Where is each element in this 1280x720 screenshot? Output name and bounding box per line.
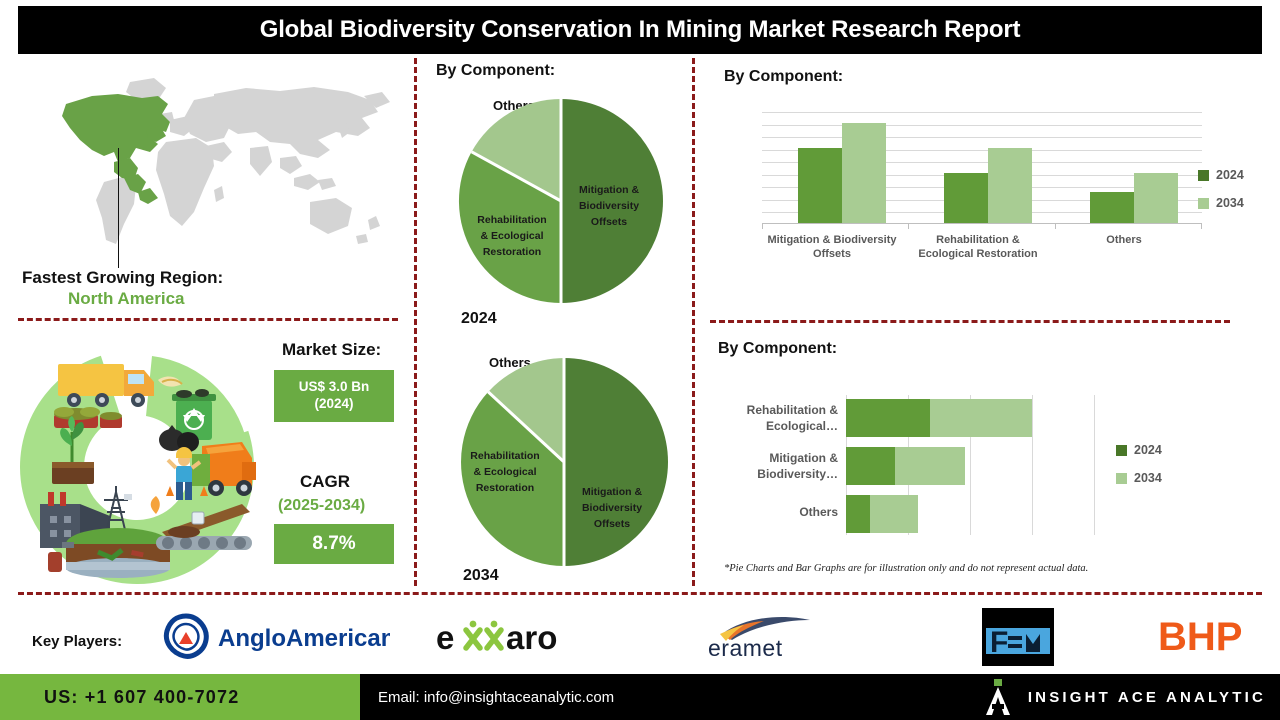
fastest-growing-region-value: North America (68, 289, 185, 309)
vertical-bar-title: By Component: (724, 68, 843, 86)
vbar-category-label-1: Rehabilitation & Ecological Restoration (912, 234, 1044, 262)
bar-2024-others (1090, 192, 1134, 223)
svg-text:e: e (436, 619, 454, 656)
svg-text:& Ecological: & Ecological (473, 466, 536, 478)
legend-item-2024-hbar: 2024 (1116, 443, 1162, 457)
vbar-category-label-2: Others (1058, 234, 1190, 248)
header-bar: Global Biodiversity Conservation In Mini… (18, 6, 1262, 54)
market-size-value: US$ 3.0 Bn (299, 379, 370, 396)
map-leader-line (118, 148, 119, 268)
hbar-2024-mitigation (846, 447, 895, 485)
brand-block: INSIGHT ACE ANALYTIC (982, 674, 1266, 720)
svg-text:Rehabilitation: Rehabilitation (477, 214, 546, 226)
angloamerican-mark (166, 616, 206, 656)
legend-label-2034-hbar: 2034 (1134, 471, 1162, 485)
hbar-category-label-1: Mitigation & Biodiversity… (710, 451, 838, 482)
divider-horizontal-bottom (18, 592, 1262, 595)
logo-bhp: BHP (1158, 614, 1262, 663)
hbar-category-label-2: Others (710, 505, 838, 521)
bar-2034-others (1134, 173, 1178, 223)
svg-text:F: F (990, 626, 1008, 659)
legend-label-2024: 2024 (1216, 168, 1244, 182)
chart-footnote: *Pie Charts and Bar Graphs are for illus… (724, 563, 1088, 574)
divider-horizontal-left (18, 318, 398, 321)
market-size-label: Market Size: (282, 340, 381, 360)
key-players-label: Key Players: (32, 633, 122, 650)
logo-eramet: eramet (706, 612, 826, 667)
vertical-bar-axis (762, 223, 1202, 224)
cagr-value: 8.7% (312, 533, 355, 555)
svg-text:Restoration: Restoration (483, 246, 541, 258)
horizontal-bar-plot (846, 395, 1096, 535)
svg-text:eramet: eramet (708, 635, 783, 661)
page-title: Global Biodiversity Conservation In Mini… (260, 16, 1021, 44)
pie-2024-year: 2024 (461, 310, 497, 328)
svg-text:& Ecological: & Ecological (480, 230, 543, 242)
legend-swatch-2034 (1198, 198, 1209, 209)
cagr-value-box: 8.7% (274, 524, 394, 564)
hbar-2034-rehabilitation (930, 399, 1032, 437)
insight-ace-logo-icon (982, 677, 1016, 717)
divider-vertical-right (692, 58, 695, 586)
fastest-growing-region-label: Fastest Growing Region: (22, 268, 223, 288)
legend-swatch-2024-hbar (1116, 445, 1127, 456)
svg-text:Biodiversity: Biodiversity (582, 502, 642, 514)
legend-item-2034-hbar: 2034 (1116, 471, 1162, 485)
svg-text:AngloAmerican: AngloAmerican (218, 625, 390, 652)
legend-label-2024-hbar: 2024 (1134, 443, 1162, 457)
pie-2024-title: By Component: (436, 62, 555, 80)
world-map (18, 70, 398, 260)
legend-item-2024: 2024 (1198, 168, 1244, 182)
svg-text:Biodiversity: Biodiversity (579, 200, 639, 212)
divider-horizontal-right (710, 320, 1230, 323)
horizontal-bar-legend: 2024 2034 (1116, 443, 1162, 499)
bar-2034-mitigation (842, 123, 886, 223)
svg-text:Rehabilitation: Rehabilitation (470, 450, 539, 462)
pie-chart-2034: Mitigation & Biodiversity Offsets Rehabi… (449, 355, 679, 570)
horizontal-bar-title: By Component: (718, 340, 837, 358)
svg-text:Offsets: Offsets (591, 216, 627, 228)
hbar-2024-others (846, 495, 870, 533)
pie-chart-2024: Mitigation & Biodiversity Offsets Rehabi… (451, 95, 671, 307)
vertical-bar-plot (762, 112, 1202, 224)
svg-text:Restoration: Restoration (476, 482, 534, 494)
cagr-years: (2025-2034) (278, 497, 365, 515)
bar-2024-rehabilitation (944, 173, 988, 223)
svg-text:Mitigation &: Mitigation & (582, 486, 642, 498)
hbar-2034-mitigation (895, 447, 965, 485)
legend-label-2034: 2034 (1216, 196, 1244, 210)
legend-item-2034: 2034 (1198, 196, 1244, 210)
hbar-category-label-0: Rehabilitation & Ecological… (710, 403, 838, 434)
footer-phone: US: +1 607 400-7072 (0, 674, 360, 720)
pie-2034-year: 2034 (463, 567, 499, 585)
hbar-2024-rehabilitation (846, 399, 930, 437)
vbar-category-label-0: Mitigation & Biodiversity Offsets (766, 234, 898, 262)
legend-swatch-2024 (1198, 170, 1209, 181)
svg-text:aro: aro (506, 619, 557, 656)
logo-fmi: F (982, 608, 1054, 671)
infographic-page: Global Biodiversity Conservation In Mini… (0, 0, 1280, 720)
brand-name: INSIGHT ACE ANALYTIC (1028, 689, 1266, 706)
vertical-bar-legend: 2024 2034 (1198, 168, 1244, 224)
svg-text:Mitigation &: Mitigation & (579, 184, 639, 196)
horizontal-bar-chart: Rehabilitation & Ecological… Mitigation … (710, 395, 1230, 555)
svg-text:Offsets: Offsets (594, 518, 630, 530)
legend-swatch-2034-hbar (1116, 473, 1127, 484)
divider-vertical-left (414, 58, 417, 586)
market-size-box: US$ 3.0 Bn (2024) (274, 370, 394, 422)
truck-icon (58, 364, 154, 407)
recycling-illustration (6, 336, 268, 584)
bar-2024-mitigation (798, 148, 842, 223)
logo-exxaro: e aro (436, 617, 568, 662)
svg-text:BHP: BHP (1158, 615, 1242, 658)
bar-2034-rehabilitation (988, 148, 1032, 223)
cagr-label: CAGR (300, 472, 350, 492)
hbar-2034-others (870, 495, 918, 533)
logo-angloamerican: AngloAmerican (160, 612, 390, 667)
market-size-year: (2024) (314, 396, 353, 413)
vertical-bar-chart: Mitigation & Biodiversity Offsets Rehabi… (752, 112, 1222, 292)
